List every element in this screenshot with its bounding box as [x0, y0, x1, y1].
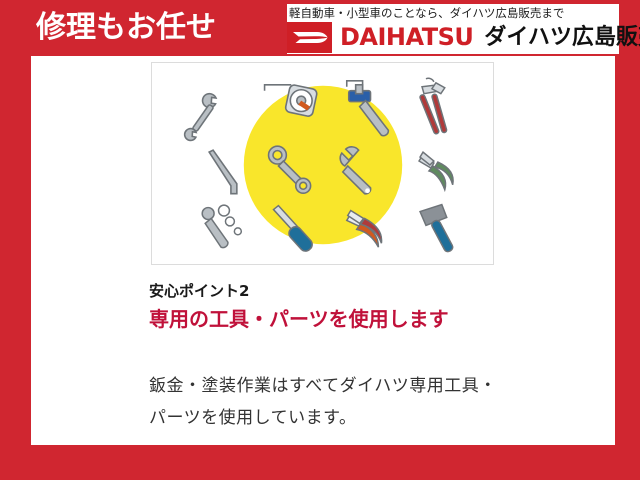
daihatsu-wordmark: DAIHATSU [340, 22, 473, 53]
daihatsu-d-emblem-icon [287, 22, 332, 53]
page-title: 修理もお任せ [36, 9, 216, 47]
allen-key-icon [209, 150, 237, 194]
illustration-frame [151, 62, 494, 265]
text-block: 安心ポイント2 専用の工具・パーツを使用します [149, 280, 509, 332]
tools-illustration [152, 63, 493, 264]
open-end-wrench-icon [178, 91, 221, 143]
yellow-circle [244, 86, 402, 244]
brand-tagline: 軽自動車・小型車のことなら、ダイハツ広島販売まで [289, 5, 564, 21]
header-bar: 修理もお任せ 軽自動車・小型車のことなら、ダイハツ広島販売まで DAIHATSU… [0, 0, 640, 56]
socket-wrench-icon [202, 205, 241, 248]
slip-joint-pliers-icon [419, 78, 447, 134]
content-card: 安心ポイント2 専用の工具・パーツを使用します 鈑金・塗装作業はすべてダイハツ専… [31, 56, 615, 445]
point-label: 安心ポイント2 [149, 280, 509, 302]
headline: 専用の工具・パーツを使用します [149, 306, 494, 332]
hammer-icon [420, 205, 454, 253]
dealer-name: ダイハツ広島販売 [484, 22, 640, 53]
slide-root: 修理もお任せ 軽自動車・小型車のことなら、ダイハツ広島販売まで DAIHATSU… [0, 0, 640, 480]
needle-nose-pliers-icon [419, 152, 453, 190]
brand-row: DAIHATSU ダイハツ広島販売 [287, 22, 619, 53]
brand-logo-block: 軽自動車・小型車のことなら、ダイハツ広島販売まで DAIHATSU ダイハツ広島… [287, 4, 619, 54]
body-text: 鈑金・塗装作業はすべてダイハツ専用工具・パーツを使用しています。 [149, 370, 499, 434]
